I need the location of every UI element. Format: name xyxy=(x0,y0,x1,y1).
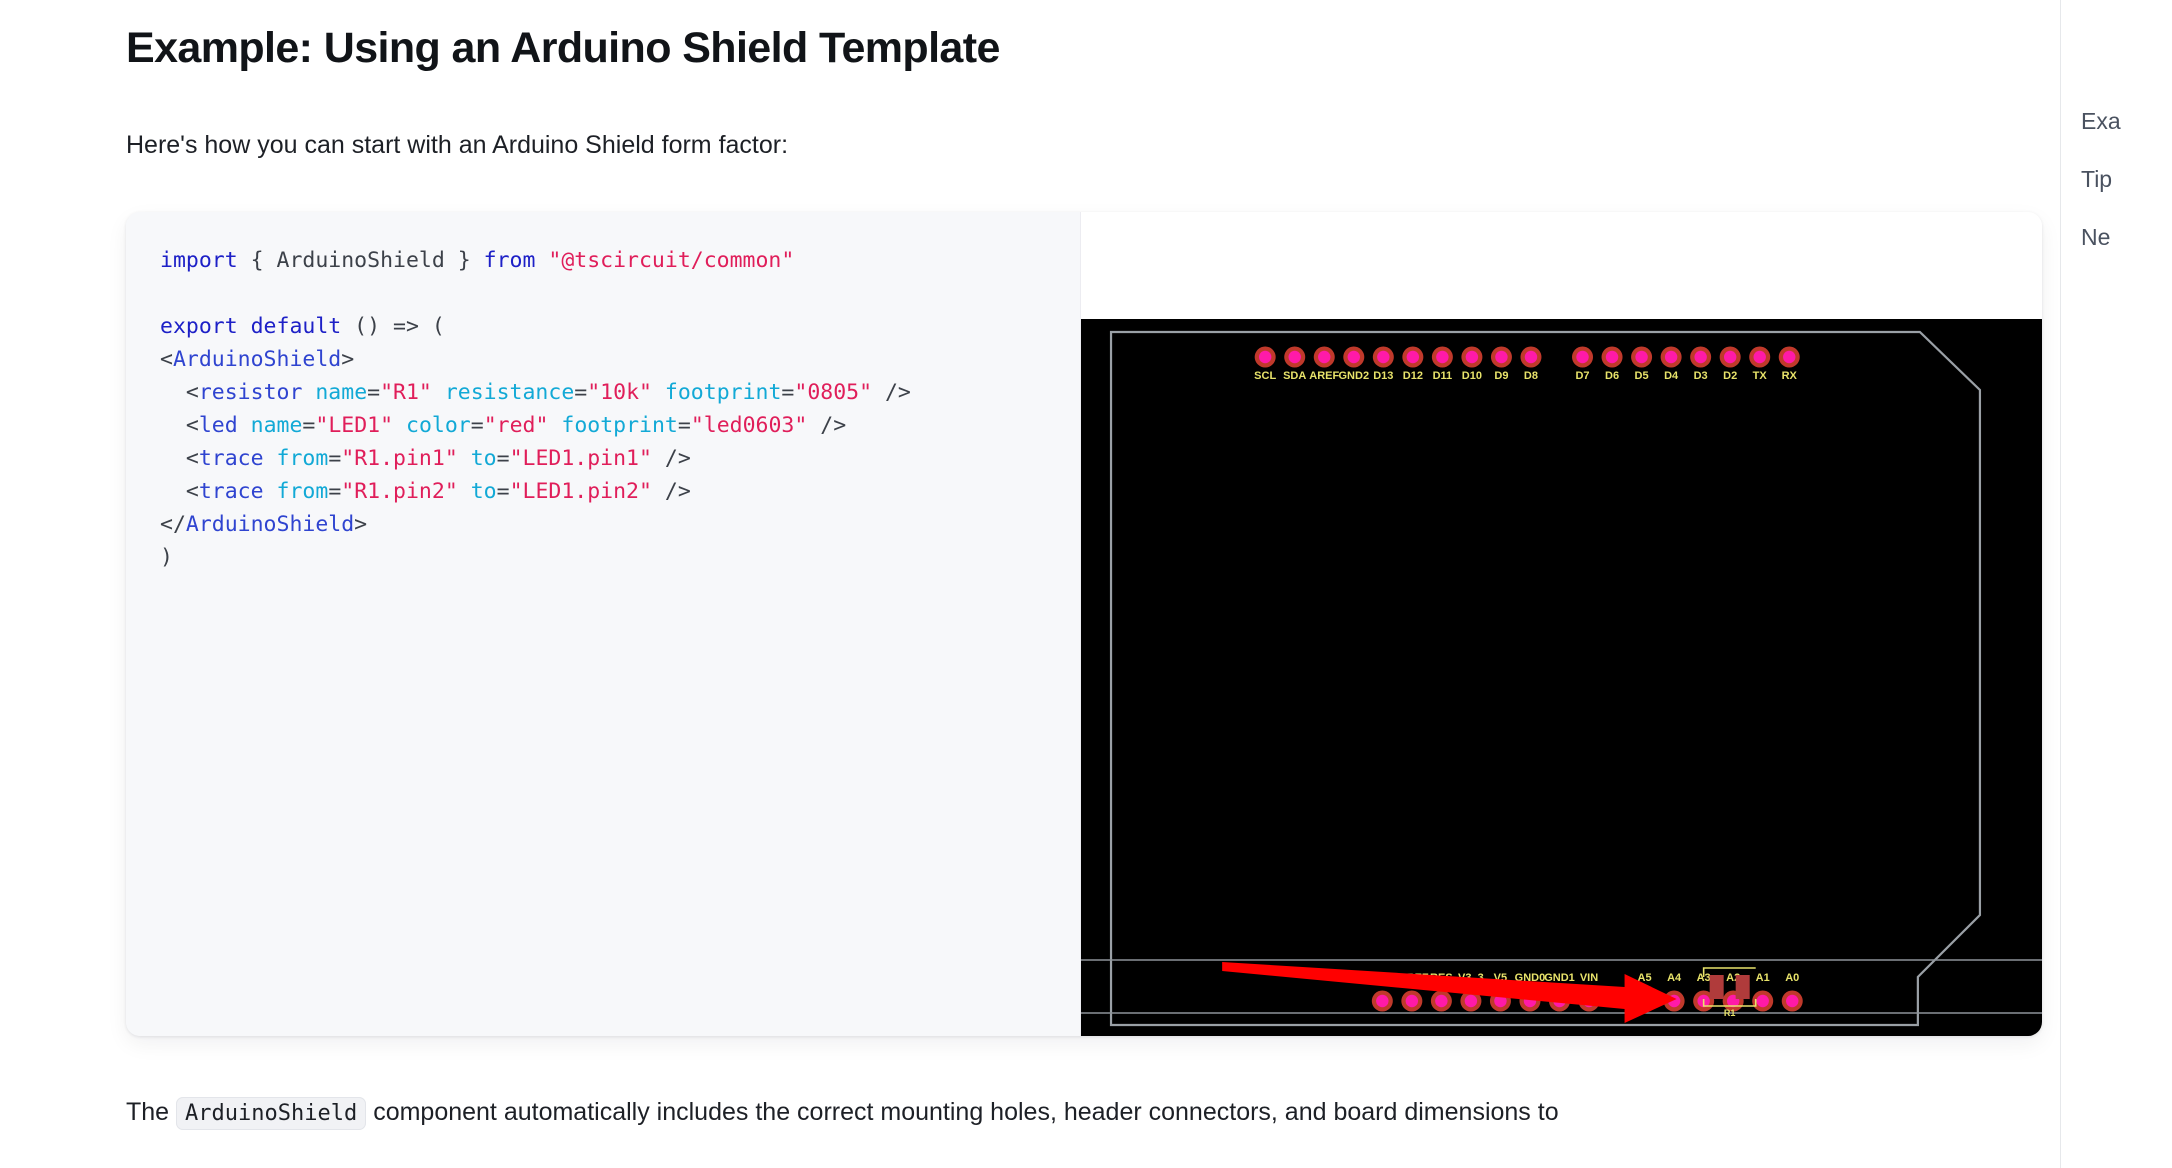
pcb-pad-d6[interactable] xyxy=(1602,347,1623,368)
code-block[interactable]: import { ArduinoShield } from "@tscircui… xyxy=(160,244,1080,574)
code-token xyxy=(302,380,315,405)
code-token: to xyxy=(471,446,497,471)
pcb-pad-label: TX xyxy=(1753,370,1768,382)
code-token xyxy=(458,446,471,471)
code-token: ) xyxy=(160,545,173,570)
pcb-pad-d3[interactable] xyxy=(1690,347,1711,368)
code-token: > xyxy=(354,512,367,537)
pcb-canvas[interactable]: SCLSDAAREFGND2D13D12D11D10D9D8D7D6D5D4D3… xyxy=(1081,319,2042,1036)
pcb-pad-d12[interactable] xyxy=(1402,347,1423,368)
code-line: <resistor name="R1" resistance="10k" foo… xyxy=(160,376,1080,409)
pcb-pad-label: D6 xyxy=(1605,370,1619,382)
pcb-pad-label: SCL xyxy=(1254,370,1276,382)
code-token: import xyxy=(160,248,238,273)
pcb-pad-label: D12 xyxy=(1403,370,1423,382)
code-line xyxy=(160,277,1080,310)
code-token: < xyxy=(160,347,173,372)
pcb-pad-label: SDA xyxy=(1283,370,1306,382)
code-token: < xyxy=(160,413,199,438)
pcb-pad-label: VIN xyxy=(1580,972,1598,984)
code-token: = xyxy=(781,380,794,405)
code-token: < xyxy=(160,380,199,405)
code-token: to xyxy=(471,479,497,504)
code-token xyxy=(458,479,471,504)
article-header: Example: Using an Arduino Shield Templat… xyxy=(126,0,2026,165)
code-token: = xyxy=(328,446,341,471)
code-line: <trace from="R1.pin1" to="LED1.pin1" /> xyxy=(160,442,1080,475)
code-token: resistor xyxy=(199,380,303,405)
code-token: from xyxy=(484,248,536,273)
code-token: color xyxy=(406,413,471,438)
code-token xyxy=(264,446,277,471)
code-line: <trace from="R1.pin2" to="LED1.pin2" /> xyxy=(160,475,1080,508)
pcb-pad-a0[interactable] xyxy=(1782,991,1803,1012)
pcb-pad-label: A1 xyxy=(1756,972,1770,984)
code-token: = xyxy=(574,380,587,405)
pcb-pad-gnd2[interactable] xyxy=(1343,347,1364,368)
code-token: resistance xyxy=(445,380,574,405)
code-token: trace xyxy=(199,446,264,471)
code-token: /> xyxy=(807,413,846,438)
pcb-pad-label: D3 xyxy=(1694,370,1708,382)
code-token: = xyxy=(678,413,691,438)
code-token: "LED1" xyxy=(315,413,393,438)
code-token: from xyxy=(277,446,329,471)
page-root: Example: Using an Arduino Shield Templat… xyxy=(0,0,2172,1168)
pcb-pad-d13[interactable] xyxy=(1373,347,1394,368)
intro-paragraph: Here's how you can start with an Arduino… xyxy=(126,76,2026,165)
code-line: import { ArduinoShield } from "@tscircui… xyxy=(160,244,1080,277)
pcb-pad-label: GND1 xyxy=(1544,972,1575,984)
code-token xyxy=(238,413,251,438)
pcb-pad-labels: SCLSDAAREFGND2D13D12D11D10D9D8D7D6D5D4D3… xyxy=(1254,370,1799,984)
code-line: ) xyxy=(160,541,1080,574)
toc-item-0[interactable]: Exa xyxy=(2081,108,2121,135)
pcb-pad-label: D13 xyxy=(1373,370,1393,382)
outro-text-before: The xyxy=(126,1098,169,1126)
pcb-render[interactable]: SCLSDAAREFGND2D13D12D11D10D9D8D7D6D5D4D3… xyxy=(1081,319,2042,1036)
pcb-pad-res[interactable] xyxy=(1431,991,1452,1012)
pcb-pad-label: AREF xyxy=(1309,370,1339,382)
code-token: "0805" xyxy=(794,380,872,405)
pcb-pad-label: D2 xyxy=(1723,370,1737,382)
code-token: "R1.pin2" xyxy=(341,479,458,504)
code-token: "R1" xyxy=(380,380,432,405)
inline-code-arduinoshield: ArduinoShield xyxy=(176,1097,366,1130)
code-token xyxy=(264,479,277,504)
outro-paragraph: The ArduinoShield component automaticall… xyxy=(126,1092,2026,1132)
pcb-pad-label: D7 xyxy=(1575,370,1589,382)
code-token: () => ( xyxy=(341,314,445,339)
code-token: = xyxy=(497,446,510,471)
code-token: "LED1.pin1" xyxy=(510,446,652,471)
code-token: } xyxy=(445,248,484,273)
pcb-pad-d5[interactable] xyxy=(1631,347,1652,368)
code-token: led xyxy=(199,413,238,438)
code-token: = xyxy=(367,380,380,405)
pcb-pad-label: D9 xyxy=(1494,370,1508,382)
code-token xyxy=(548,413,561,438)
pcb-component-label: R1 xyxy=(1724,1008,1736,1018)
page-title: Example: Using an Arduino Shield Templat… xyxy=(126,0,2026,76)
code-pane[interactable]: import { ArduinoShield } from "@tscircui… xyxy=(126,212,1081,1036)
code-token: "R1.pin1" xyxy=(341,446,458,471)
circuit-preview-pane: PCB Schematic 3D SCLSDAAREFGND2D13D12D11… xyxy=(1081,212,2042,1036)
right-sidebar-toc: Exa Tip Ne xyxy=(2060,0,2172,1168)
code-token xyxy=(432,380,445,405)
code-token: export default xyxy=(160,314,341,339)
code-token xyxy=(393,413,406,438)
code-line: <led name="LED1" color="red" footprint="… xyxy=(160,409,1080,442)
code-token: ArduinoShield xyxy=(186,512,354,537)
code-token: </ xyxy=(160,512,186,537)
code-token: /> xyxy=(652,446,691,471)
pcb-pad-label: A0 xyxy=(1785,972,1799,984)
toc-item-2[interactable]: Ne xyxy=(2081,224,2110,251)
code-token: = xyxy=(471,413,484,438)
pcb-pad-d7[interactable] xyxy=(1572,347,1593,368)
outro-text-after: component automatically includes the cor… xyxy=(373,1098,1558,1126)
pcb-pad-nc[interactable] xyxy=(1372,991,1393,1012)
pcb-pad-sda[interactable] xyxy=(1284,347,1305,368)
code-line: <ArduinoShield> xyxy=(160,343,1080,376)
pcb-pad-tx[interactable] xyxy=(1749,347,1770,368)
code-token: < xyxy=(160,446,199,471)
code-token: ArduinoShield xyxy=(277,248,445,273)
code-token: from xyxy=(277,479,329,504)
pcb-pad-label: GND2 xyxy=(1338,370,1369,382)
code-token xyxy=(652,380,665,405)
pcb-pad-scl[interactable] xyxy=(1255,347,1276,368)
pcb-pad-d10[interactable] xyxy=(1461,347,1482,368)
code-token: "@tscircuit/common" xyxy=(548,248,794,273)
pcb-pad-label: RX xyxy=(1782,370,1798,382)
code-token: footprint xyxy=(561,413,678,438)
pcb-pad-label: D10 xyxy=(1462,370,1482,382)
pcb-header-pads[interactable] xyxy=(1255,347,1803,1012)
toc-item-1[interactable]: Tip xyxy=(2081,166,2112,193)
code-token: footprint xyxy=(665,380,782,405)
code-token: "led0603" xyxy=(691,413,808,438)
pcb-pad-rx[interactable] xyxy=(1779,347,1800,368)
pcb-board-outline xyxy=(1111,332,1980,1025)
code-token: "red" xyxy=(484,413,549,438)
pcb-pad-d4[interactable] xyxy=(1661,347,1682,368)
code-token: ArduinoShield xyxy=(173,347,341,372)
pcb-pad-d9[interactable] xyxy=(1491,347,1512,368)
code-token: = xyxy=(328,479,341,504)
code-token: /> xyxy=(872,380,911,405)
code-token: /> xyxy=(652,479,691,504)
pcb-pad-label: D4 xyxy=(1664,370,1679,382)
pcb-pad-aref[interactable] xyxy=(1314,347,1335,368)
pcb-pad-d2[interactable] xyxy=(1720,347,1741,368)
pcb-pad-d11[interactable] xyxy=(1432,347,1453,368)
pcb-pad-label: D8 xyxy=(1524,370,1538,382)
code-line: </ArduinoShield> xyxy=(160,508,1080,541)
code-token: name xyxy=(251,413,303,438)
pcb-pad-label: A4 xyxy=(1667,972,1682,984)
code-token: "10k" xyxy=(587,380,652,405)
code-token: "LED1.pin2" xyxy=(510,479,652,504)
code-line: export default () => ( xyxy=(160,310,1080,343)
pcb-pad-ioref[interactable] xyxy=(1401,991,1422,1012)
code-token: > xyxy=(341,347,354,372)
pcb-pad-d8[interactable] xyxy=(1520,347,1541,368)
code-token: { xyxy=(238,248,277,273)
code-token: trace xyxy=(199,479,264,504)
example-card: import { ArduinoShield } from "@tscircui… xyxy=(126,212,2042,1036)
code-token xyxy=(535,248,548,273)
code-token: < xyxy=(160,479,199,504)
code-token: name xyxy=(315,380,367,405)
code-token: = xyxy=(302,413,315,438)
code-token: = xyxy=(497,479,510,504)
pcb-pad-label: D5 xyxy=(1635,370,1649,382)
pcb-pad-label: D11 xyxy=(1433,370,1453,382)
